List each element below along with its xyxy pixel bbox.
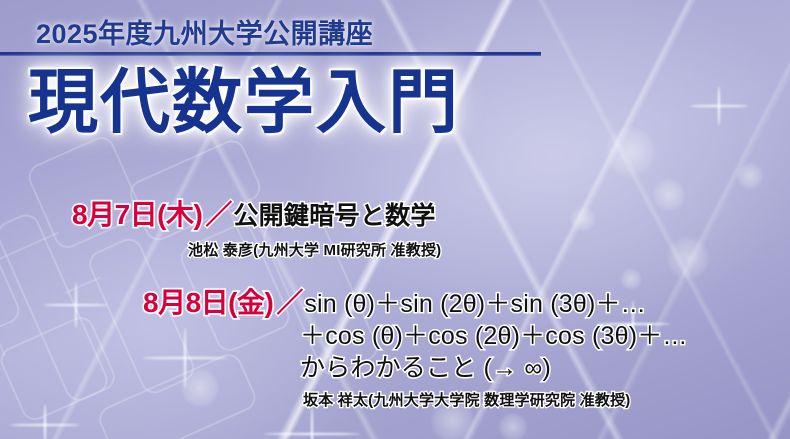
lecture-2-formula-line-3: からわかること (→ ∞): [300, 353, 688, 385]
lecture-2-formula-line-1: sin (θ)＋sin (2θ)＋sin (3θ)＋…: [304, 289, 646, 321]
poster-kicker: 2025年度九州大学公開講座: [36, 12, 373, 51]
lecture-2-formula-stack: ＋cos (θ)＋cos (2θ)＋cos (3θ)＋… からわかること (→ …: [300, 321, 688, 384]
lecture-2-speaker: 坂本 祥太(九州大学大学院 数理学研究院 准教授): [303, 389, 688, 410]
lecture-entry-1: 8月7日 (木) ／ 公開鍵暗号と数学 池松 泰彦(九州大学 MI研究所 准教授…: [72, 193, 441, 260]
lecture-entry-2: 8月8日 (金) ／ sin (θ)＋sin (2θ)＋sin (3θ)＋… ＋…: [143, 281, 688, 410]
lecture-1-speaker: 池松 泰彦(九州大学 MI研究所 准教授): [188, 239, 441, 260]
lecture-1-heading: 8月7日 (木) ／ 公開鍵暗号と数学: [72, 193, 441, 233]
page-title: 現代数学入門: [28, 66, 460, 140]
lecture-1-weekday: (木): [157, 193, 202, 233]
lecture-2-weekday: (金): [228, 281, 273, 321]
lecture-2-heading: 8月8日 (金) ／ sin (θ)＋sin (2θ)＋sin (3θ)＋…: [143, 281, 688, 321]
lecture-2-separator: ／: [276, 281, 303, 320]
header-divider-rule: [0, 52, 541, 56]
poster-content: 2025年度九州大学公開講座 現代数学入門 8月7日 (木) ／ 公開鍵暗号と数…: [0, 0, 790, 439]
lecture-2-formula-line-2: ＋cos (θ)＋cos (2θ)＋cos (3θ)＋…: [300, 321, 688, 353]
poster-canvas: 2025年度九州大学公開講座 現代数学入門 8月7日 (木) ／ 公開鍵暗号と数…: [0, 0, 790, 439]
lecture-1-title: 公開鍵暗号と数学: [233, 196, 435, 232]
lecture-1-date: 8月7日: [72, 193, 157, 233]
lecture-1-separator: ／: [205, 193, 232, 232]
lecture-2-date: 8月8日: [143, 281, 228, 321]
